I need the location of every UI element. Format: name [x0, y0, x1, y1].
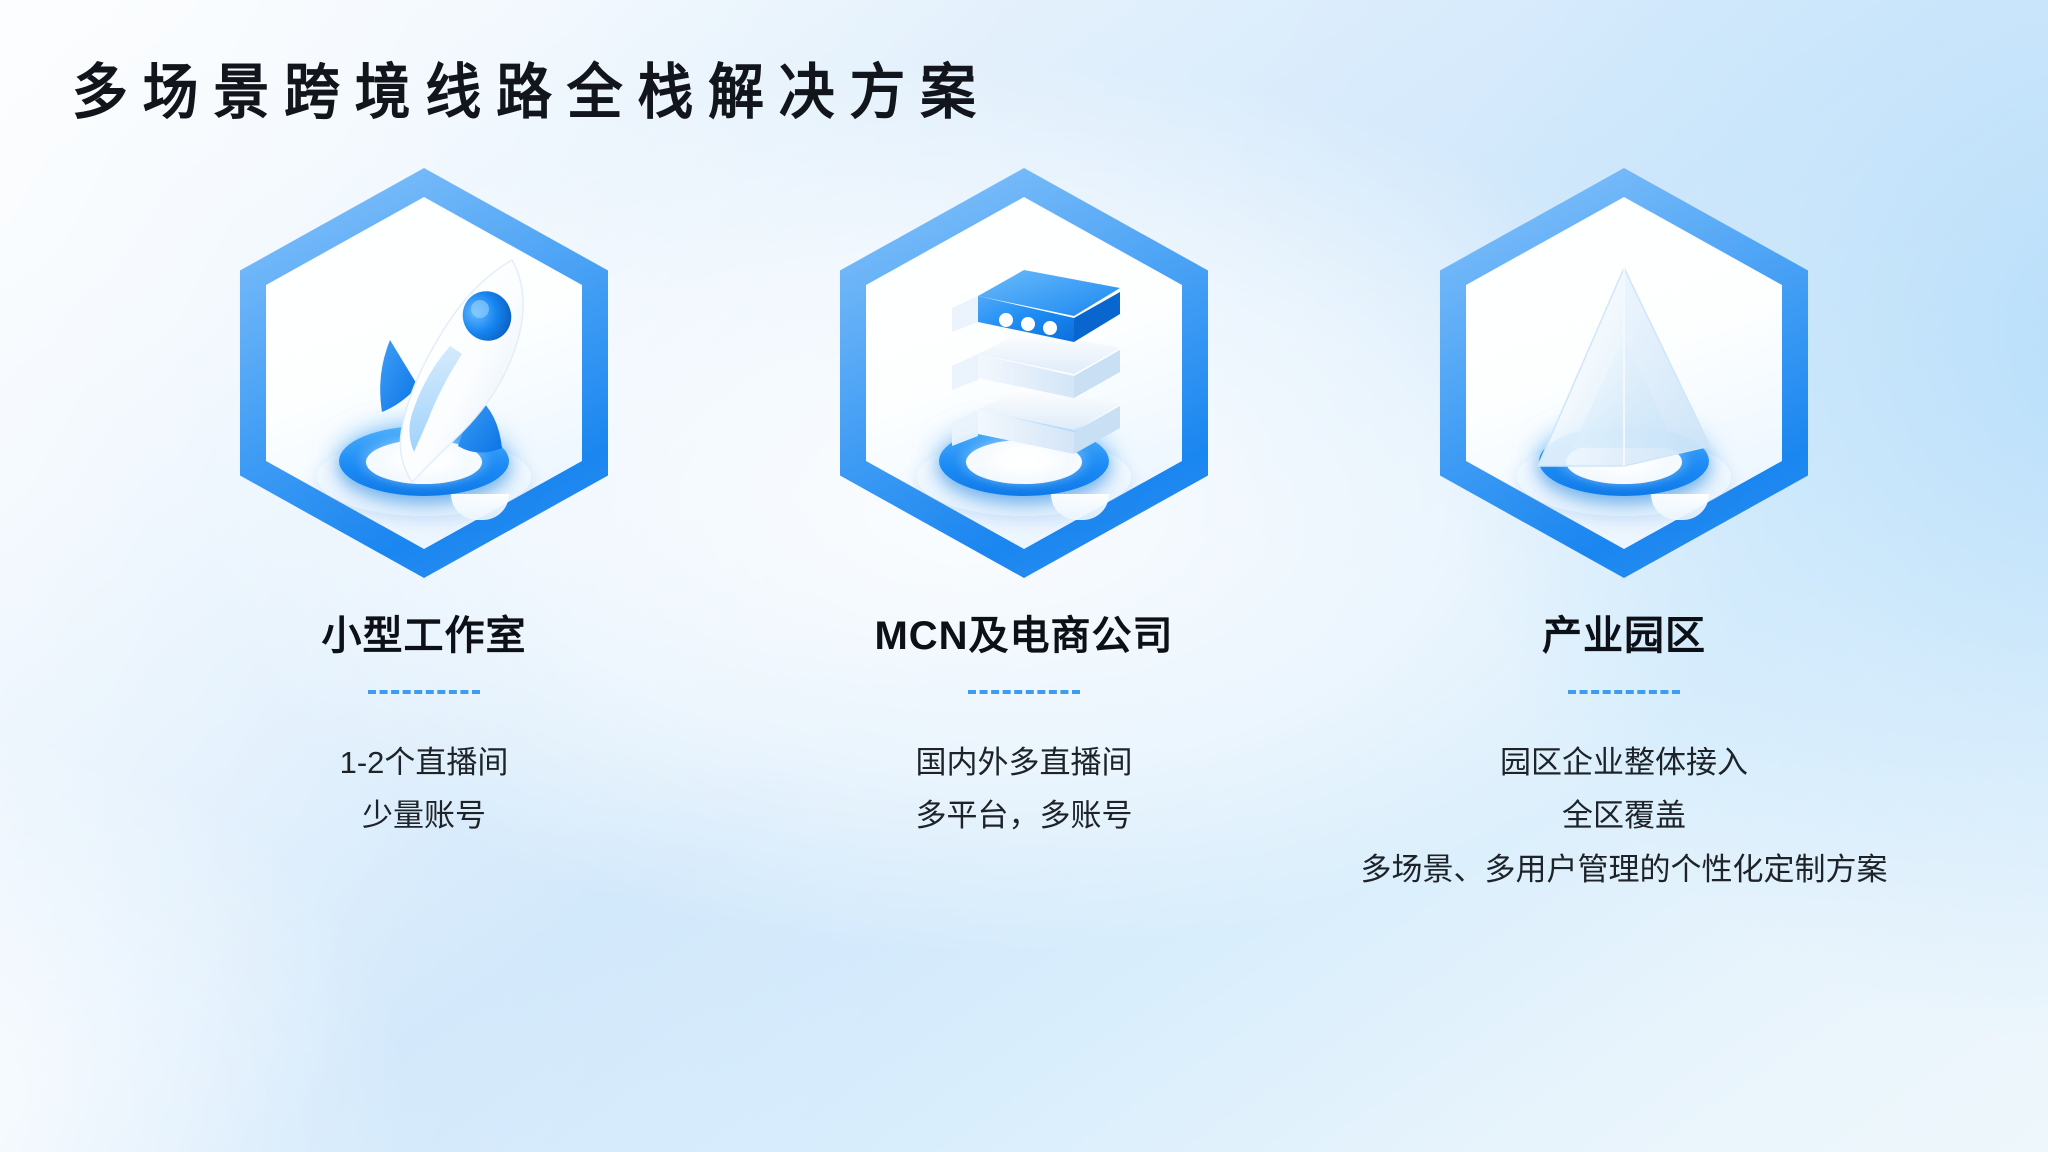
card-body-line: 园区企业整体接入	[1361, 736, 1888, 789]
card-body: 国内外多直播间 多平台，多账号	[916, 736, 1133, 843]
card-title: 产业园区	[1542, 612, 1706, 660]
card-divider	[1568, 690, 1680, 694]
glass-pyramid-icon	[1440, 168, 1808, 578]
card-body-line: 国内外多直播间	[916, 736, 1133, 789]
rocket-icon	[240, 168, 608, 578]
server-stack-icon	[840, 168, 1208, 578]
solution-card-mcn[interactable]: MCN及电商公司 国内外多直播间 多平台，多账号	[724, 168, 1324, 843]
hexagon-badge	[1440, 168, 1808, 578]
card-title: 小型工作室	[322, 612, 527, 660]
slide-canvas: 多场景跨境线路全栈解决方案	[0, 0, 2048, 1152]
card-divider	[968, 690, 1080, 694]
card-divider	[368, 690, 480, 694]
card-body-line: 多平台，多账号	[916, 789, 1133, 842]
card-body-line: 少量账号	[340, 789, 509, 842]
page-title: 多场景跨境线路全栈解决方案	[72, 58, 991, 127]
hexagon-badge	[240, 168, 608, 578]
card-body-line: 全区覆盖	[1361, 789, 1888, 842]
card-body: 园区企业整体接入 全区覆盖 多场景、多用户管理的个性化定制方案	[1361, 736, 1888, 896]
solution-card-studio[interactable]: 小型工作室 1-2个直播间 少量账号	[124, 168, 724, 843]
card-body-line: 1-2个直播间	[340, 736, 509, 789]
hexagon-badge	[840, 168, 1208, 578]
solution-card-industrial-park[interactable]: 产业园区 园区企业整体接入 全区覆盖 多场景、多用户管理的个性化定制方案	[1324, 168, 1924, 896]
card-body-line: 多场景、多用户管理的个性化定制方案	[1361, 843, 1888, 896]
solution-cards-row: 小型工作室 1-2个直播间 少量账号	[0, 168, 2048, 896]
card-title: MCN及电商公司	[874, 612, 1173, 660]
card-body: 1-2个直播间 少量账号	[340, 736, 509, 843]
